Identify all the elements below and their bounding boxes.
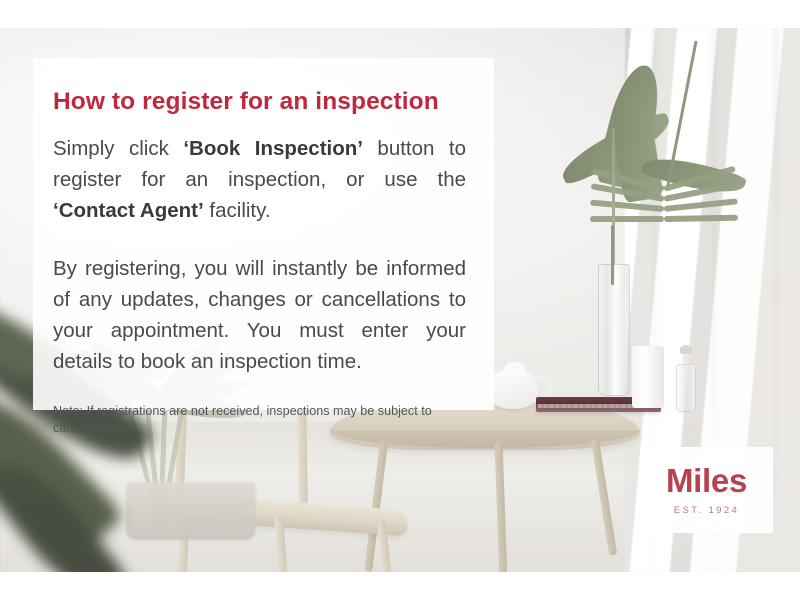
- brand-logo: Miles EST. 1924: [640, 447, 773, 533]
- book-inspection-emphasis: ‘Book Inspection’: [183, 137, 363, 160]
- info-panel: How to register for an inspection Simply…: [33, 58, 494, 410]
- brand-wordmark: Miles: [666, 464, 747, 497]
- brand-established-year: EST. 1924: [674, 505, 739, 516]
- letterbox-bottom: [0, 572, 800, 600]
- poster-canvas: How to register for an inspection Simply…: [0, 0, 800, 600]
- registration-benefits-paragraph: By registering, you will instantly be in…: [53, 253, 466, 377]
- page-title: How to register for an inspection: [53, 88, 466, 116]
- candle: [632, 346, 664, 408]
- glass-bottle: [676, 364, 696, 412]
- palm-frond-vase: [560, 36, 760, 396]
- instructions-text-part-3: facility.: [204, 199, 271, 222]
- letterbox-top: [0, 0, 800, 28]
- contact-agent-emphasis: ‘Contact Agent’: [53, 199, 204, 222]
- teapot-lid: [505, 362, 525, 372]
- instructions-paragraph: Simply click ‘Book Inspection’ button to…: [53, 133, 466, 226]
- cancellation-note: Note: If registrations are not received,…: [53, 403, 466, 437]
- instructions-text-part-1: Simply click: [53, 137, 183, 160]
